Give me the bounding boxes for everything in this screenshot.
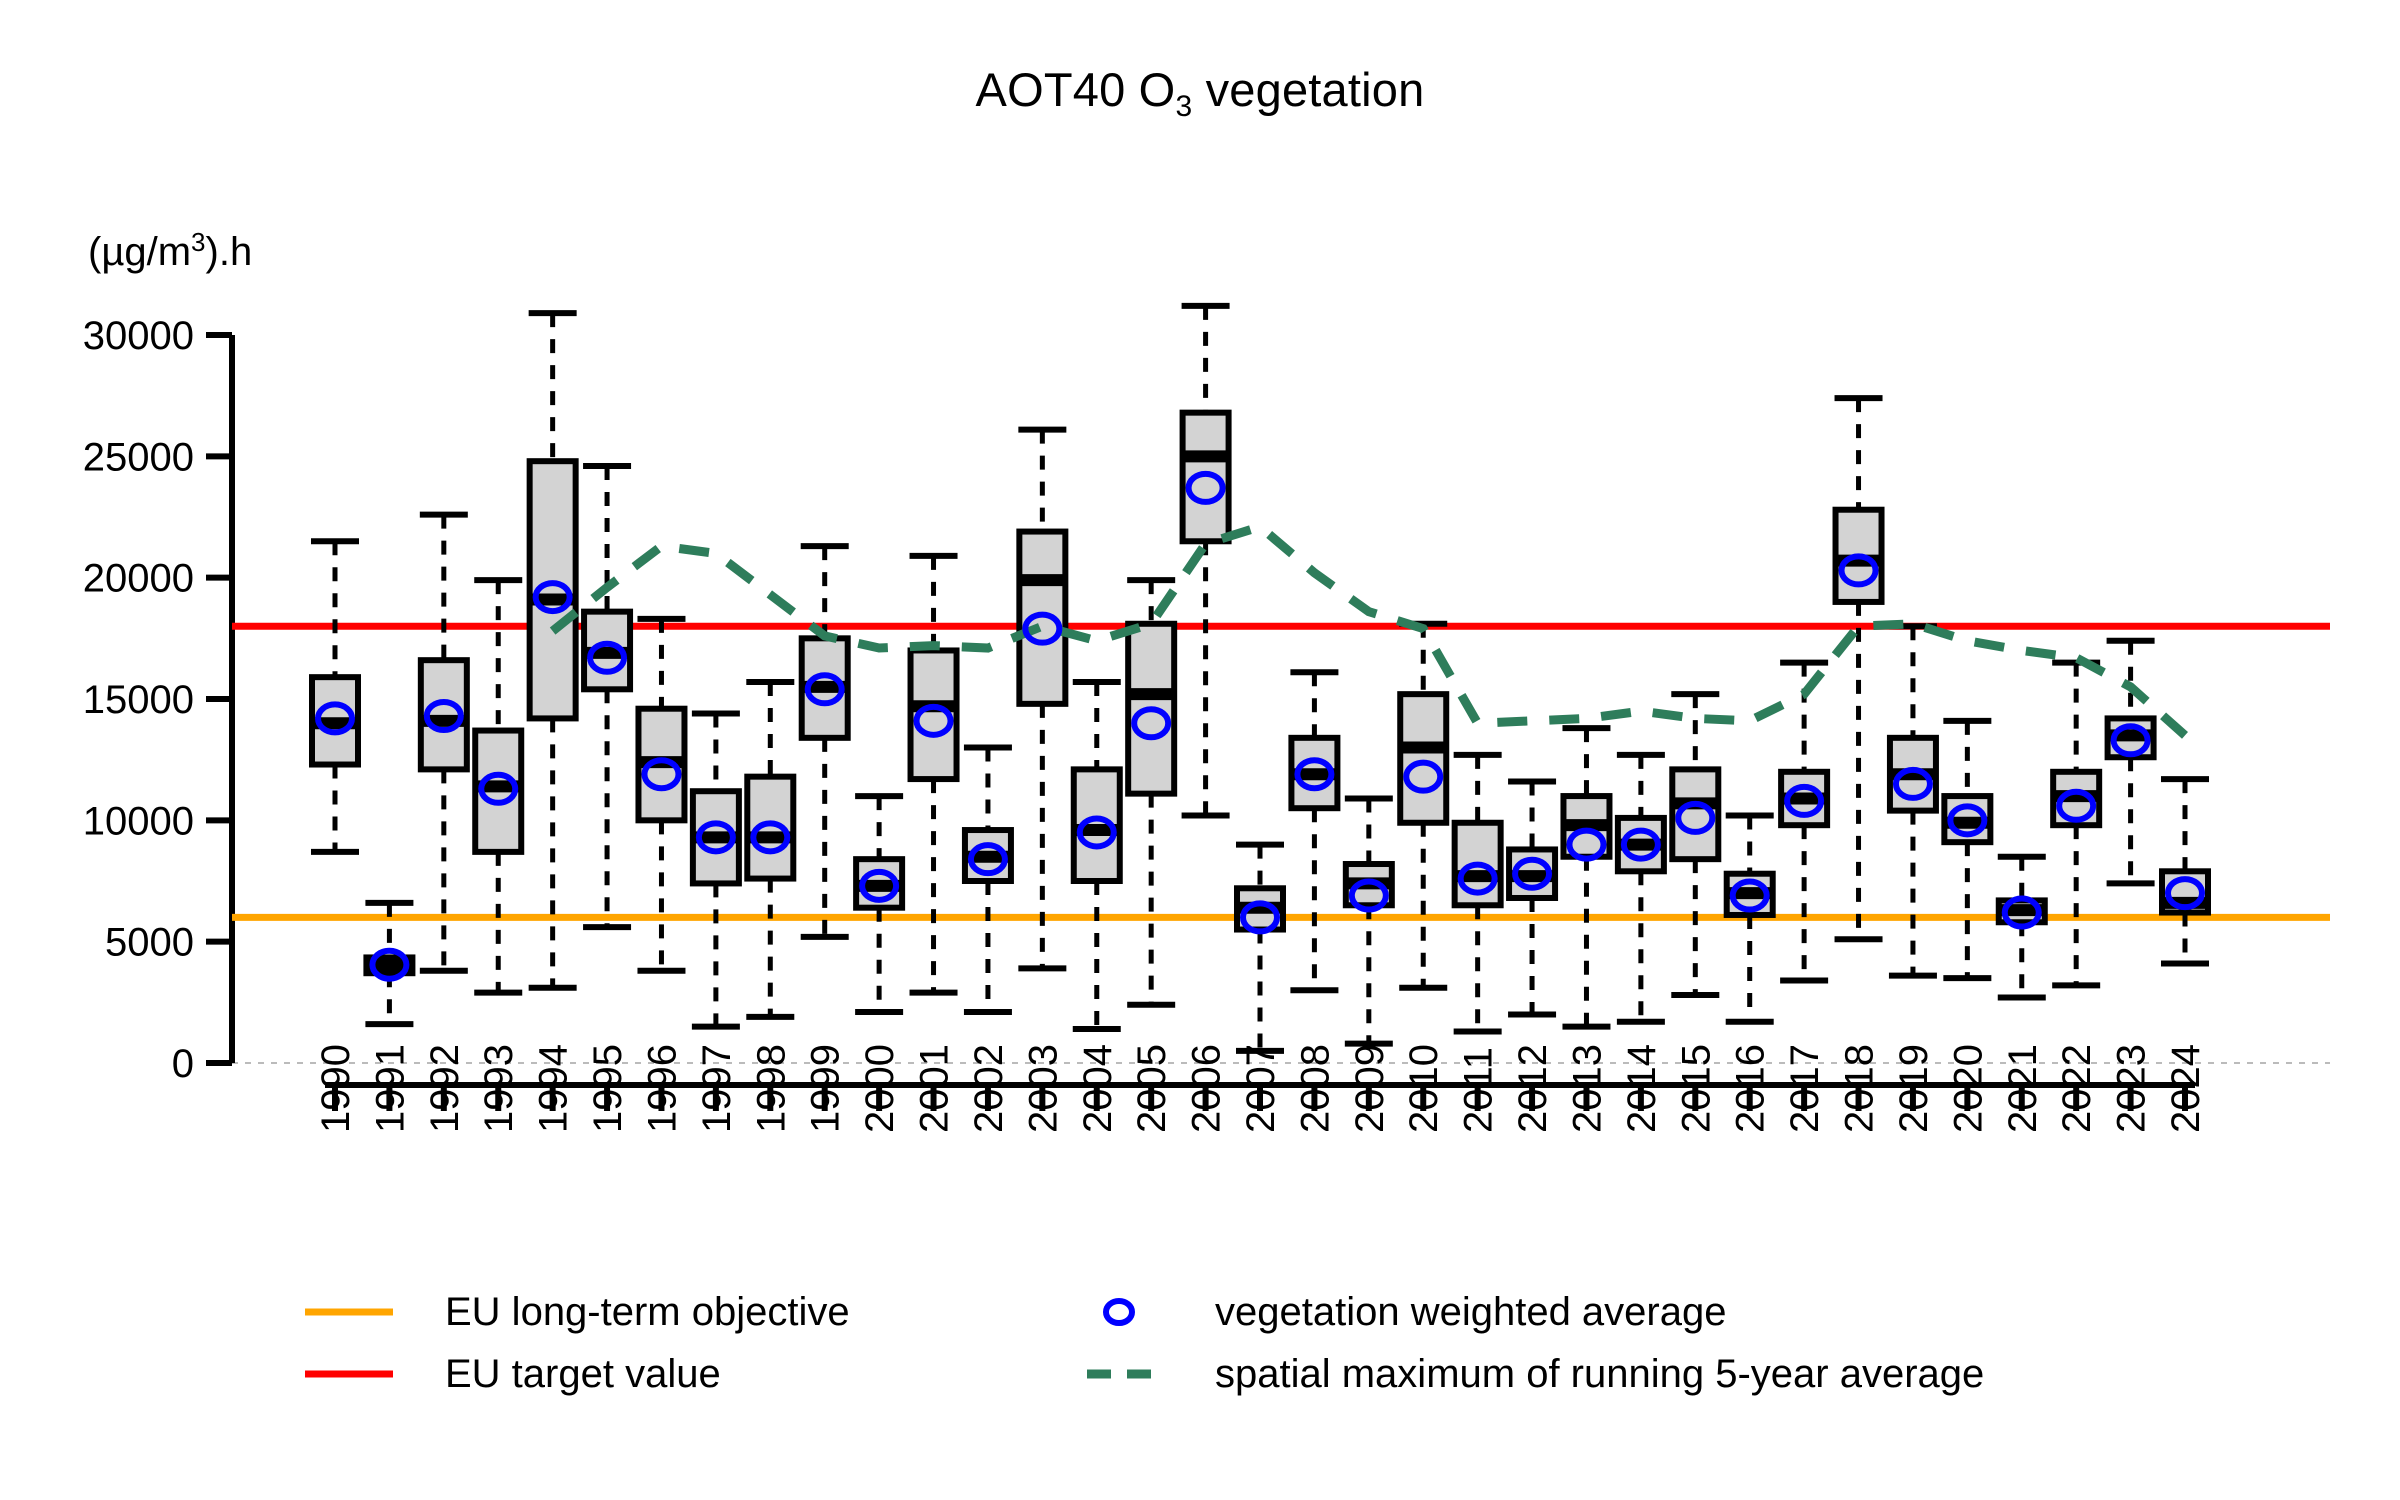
x-axis-tick-label: 1991 <box>368 1044 412 1133</box>
x-axis-tick-label: 1997 <box>695 1044 739 1133</box>
boxplot-2023 <box>2107 641 2155 884</box>
x-axis-tick-label: 2016 <box>1729 1044 1773 1133</box>
x-axis-tick-label: 1990 <box>314 1044 358 1133</box>
boxplot-1994 <box>529 313 577 988</box>
x-axis-tick-label: 2010 <box>1402 1044 1446 1133</box>
boxplot-2005 <box>1127 580 1175 1005</box>
boxplot-figure: 050001000015000200002500030000 199019911… <box>0 0 2400 1500</box>
x-axis-tick-label: 1993 <box>477 1044 521 1133</box>
x-axis-tick-label: 2019 <box>1892 1044 1936 1133</box>
legend-item-vegetation-weighted-average[interactable]: vegetation weighted average <box>1106 1290 1726 1334</box>
boxplot-2022 <box>2052 663 2100 986</box>
boxplot-2007 <box>1236 845 1284 1051</box>
boxplot-2015 <box>1671 694 1719 995</box>
legend-item-eu-target-value[interactable]: EU target value <box>305 1352 721 1396</box>
x-axis-tick-label: 2011 <box>1457 1047 1501 1133</box>
x-axis-tick-label: 1992 <box>423 1044 467 1133</box>
boxplot-2020 <box>1943 721 1991 978</box>
x-axis-tick-label: 2003 <box>1021 1044 1065 1133</box>
boxplot-2018 <box>1835 398 1883 939</box>
x-axis-tick-label: 2009 <box>1348 1044 1392 1133</box>
x-axis-tick-label: 2015 <box>1674 1044 1718 1133</box>
boxplot-1995 <box>583 466 631 927</box>
y-axis-tick-label: 15000 <box>83 678 194 722</box>
boxplot-1999 <box>801 546 849 937</box>
boxplot-1997 <box>692 714 740 1027</box>
x-axis-tick-label: 2018 <box>1838 1044 1882 1133</box>
legend-item-spatial-maximum-running-5-year-average[interactable]: spatial maximum of running 5-year averag… <box>1087 1352 1984 1396</box>
x-axis-tick-label: 2007 <box>1239 1044 1283 1133</box>
legend-item-label: EU target value <box>445 1352 721 1396</box>
x-axis-tick-label: 2012 <box>1511 1044 1555 1133</box>
x-axis-tick-label: 2020 <box>1946 1044 1990 1133</box>
y-axis-tick-label: 25000 <box>83 435 194 479</box>
x-axis-tick-label: 2001 <box>913 1044 957 1133</box>
boxplot-series <box>311 306 2209 1051</box>
boxplot-2000 <box>855 796 903 1012</box>
x-axis-tick-label: 2013 <box>1565 1044 1609 1133</box>
boxplot-2014 <box>1617 755 1665 1022</box>
x-axis-tick-label: 2021 <box>2001 1044 2045 1133</box>
legend-item-label: vegetation weighted average <box>1215 1290 1726 1334</box>
vegetation-weighted-average-points <box>318 474 2202 979</box>
x-axis-tick-label: 2023 <box>2110 1044 2154 1133</box>
boxplot-2009 <box>1345 798 1393 1043</box>
boxplot-2002 <box>964 748 1012 1013</box>
boxplot-2004 <box>1073 682 1121 1029</box>
box-iqr <box>1400 694 1446 823</box>
x-axis-tick-label: 2024 <box>2164 1044 2208 1133</box>
y-axis-tick-label: 10000 <box>83 799 194 843</box>
boxplot-1992 <box>420 515 468 971</box>
y-axis: 050001000015000200002500030000 <box>83 314 232 1086</box>
x-axis-tick-label: 1998 <box>749 1044 793 1133</box>
x-axis-tick-label: 2008 <box>1293 1044 1337 1133</box>
boxplot-1990 <box>311 541 359 852</box>
x-axis-tick-label: 2014 <box>1620 1044 1664 1133</box>
x-axis-tick-label: 1995 <box>586 1044 630 1133</box>
boxplot-2013 <box>1562 728 1610 1026</box>
x-axis: 1990199119921993199419951996199719981999… <box>314 1044 2208 1133</box>
spatial-max-trend-line <box>553 527 2185 736</box>
x-axis-tick-label: 1996 <box>640 1044 684 1133</box>
x-axis-tick-label: 2000 <box>858 1044 902 1133</box>
box-iqr <box>1183 413 1229 542</box>
x-axis-tick-label: 2017 <box>1783 1044 1827 1133</box>
legend-item-label: EU long-term objective <box>445 1290 850 1334</box>
legend: EU long-term objectiveEU target valueveg… <box>305 1290 1984 1396</box>
trend-polyline <box>553 527 2185 736</box>
x-axis-tick-label: 2005 <box>1130 1044 1174 1133</box>
legend-item-label: spatial maximum of running 5-year averag… <box>1215 1352 1984 1396</box>
y-axis-tick-label: 20000 <box>83 557 194 601</box>
x-axis-tick-label: 2022 <box>2055 1044 2099 1133</box>
boxplot-2010 <box>1399 624 1447 988</box>
chart-root: AOT40 O3 vegetation (µg/m3).h 0500010000… <box>0 0 2400 1500</box>
x-axis-tick-label: 2004 <box>1076 1044 1120 1133</box>
boxplot-2003 <box>1018 430 1066 969</box>
x-axis-tick-label: 2002 <box>967 1044 1011 1133</box>
boxplot-2024 <box>2161 779 2209 963</box>
y-axis-tick-label: 5000 <box>105 921 194 965</box>
box-iqr <box>1019 532 1065 704</box>
legend-open-circle-icon <box>1106 1301 1132 1323</box>
boxplot-2001 <box>910 556 958 993</box>
y-axis-tick-label: 0 <box>172 1042 194 1086</box>
boxplot-2017 <box>1780 663 1828 981</box>
x-axis-tick-label: 2006 <box>1185 1044 1229 1133</box>
boxplot-2008 <box>1290 672 1338 990</box>
x-axis-tick-label: 1999 <box>804 1044 848 1133</box>
y-axis-tick-label: 30000 <box>83 314 194 358</box>
x-axis-tick-label: 1994 <box>532 1044 576 1133</box>
boxplot-2012 <box>1508 782 1556 1015</box>
legend-item-eu-long-term-objective[interactable]: EU long-term objective <box>305 1290 850 1334</box>
